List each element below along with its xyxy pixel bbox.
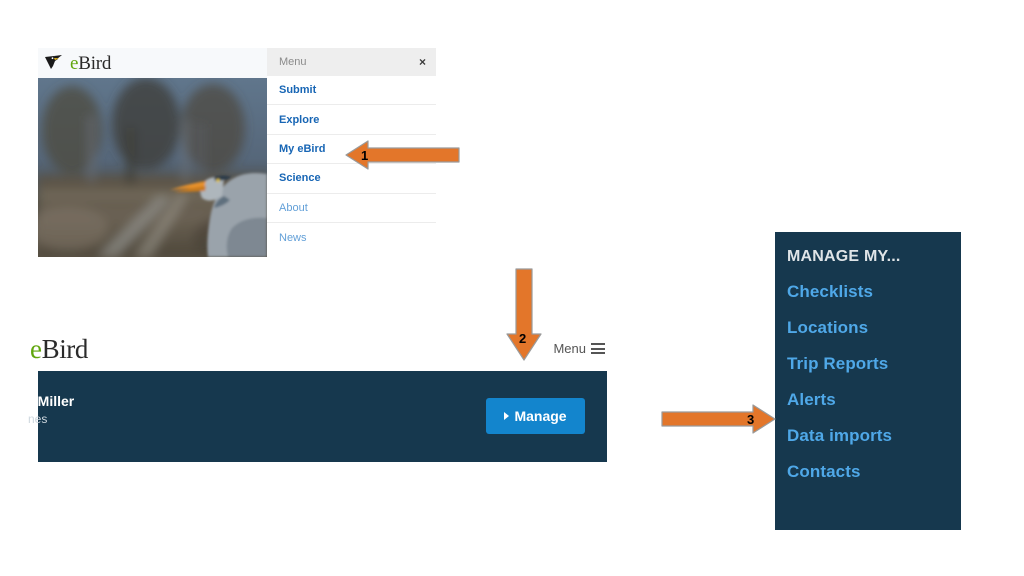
annotation-number-1: 1 bbox=[361, 149, 368, 162]
menu-item-label: About bbox=[279, 202, 308, 214]
menu-toggle-label: Menu bbox=[553, 341, 586, 356]
user-name: a Miller bbox=[26, 393, 74, 409]
annotation-arrow-3: 3 bbox=[661, 402, 776, 436]
manage-link-alerts[interactable]: Alerts bbox=[787, 390, 961, 410]
hamburger-icon bbox=[591, 343, 605, 354]
menu-item-about[interactable]: About bbox=[267, 194, 436, 223]
annotation-arrow-2: 2 bbox=[505, 268, 543, 361]
caret-right-icon bbox=[504, 412, 509, 420]
great-blue-heron-photo bbox=[38, 78, 267, 257]
manage-link-data-imports[interactable]: Data imports bbox=[787, 426, 961, 446]
menu-item-label: My eBird bbox=[279, 143, 325, 155]
menu-item-label: Submit bbox=[279, 84, 316, 96]
menu-item-news[interactable]: News bbox=[267, 223, 436, 252]
ebird-logo-header[interactable]: eBird bbox=[38, 48, 267, 78]
menu-item-submit[interactable]: Submit bbox=[267, 76, 436, 105]
menu-item-label: Science bbox=[279, 172, 321, 184]
manage-link-contacts[interactable]: Contacts bbox=[787, 462, 961, 482]
menu-item-label: Explore bbox=[279, 114, 319, 126]
ebird-wordmark-bird: Bird bbox=[78, 53, 111, 74]
user-profile-banner: a Miller nes Manage bbox=[38, 371, 607, 462]
menu-item-explore[interactable]: Explore bbox=[267, 105, 436, 134]
manage-link-checklists[interactable]: Checklists bbox=[787, 282, 961, 302]
manage-my-heading: MANAGE MY... bbox=[787, 248, 961, 266]
manage-button-label: Manage bbox=[514, 408, 566, 424]
manage-link-trip-reports[interactable]: Trip Reports bbox=[787, 354, 961, 374]
manage-my-menu: MANAGE MY... Checklists Locations Trip R… bbox=[775, 232, 961, 530]
ebird-logo-main[interactable]: eBird bbox=[30, 336, 88, 363]
ebird-wordmark-e: e bbox=[70, 53, 78, 74]
menu-dropdown-header: Menu × bbox=[267, 48, 436, 76]
manage-button[interactable]: Manage bbox=[486, 398, 585, 434]
annotation-number-2: 2 bbox=[519, 332, 526, 345]
close-icon[interactable]: × bbox=[419, 56, 426, 68]
menu-dropdown-title: Menu bbox=[279, 56, 307, 68]
user-subtitle: nes bbox=[28, 412, 47, 426]
menu-toggle-button[interactable]: Menu bbox=[553, 341, 605, 356]
menu-item-label: News bbox=[279, 232, 307, 244]
ebird-wordmark-e: e bbox=[30, 334, 42, 364]
annotation-number-3: 3 bbox=[747, 413, 754, 426]
ebird-wordmark-bird: Bird bbox=[42, 334, 88, 364]
bird-icon bbox=[42, 53, 64, 73]
annotation-arrow-1: 1 bbox=[345, 138, 460, 172]
manage-link-locations[interactable]: Locations bbox=[787, 318, 961, 338]
ebird-wordmark: eBird bbox=[70, 54, 111, 73]
